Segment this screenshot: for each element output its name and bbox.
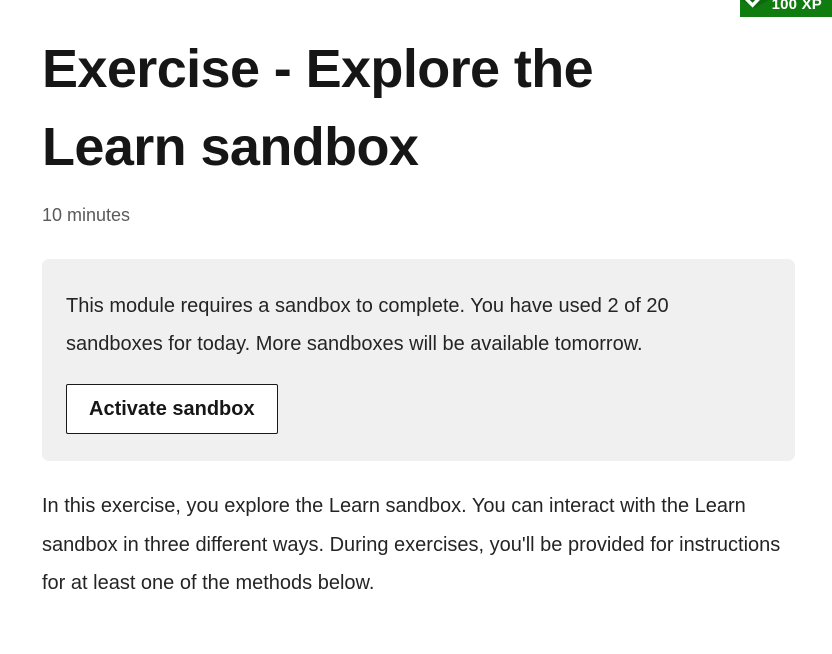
page-title: Exercise - Explore the Learn sandbox xyxy=(42,0,682,186)
main-content: Exercise - Explore the Learn sandbox 10 … xyxy=(42,0,796,603)
activate-sandbox-button[interactable]: Activate sandbox xyxy=(66,384,278,434)
exercise-intro-paragraph: In this exercise, you explore the Learn … xyxy=(42,461,782,603)
sandbox-info-box: This module requires a sandbox to comple… xyxy=(42,259,795,461)
duration-label: 10 minutes xyxy=(42,186,796,226)
sandbox-message: This module requires a sandbox to comple… xyxy=(66,287,766,363)
